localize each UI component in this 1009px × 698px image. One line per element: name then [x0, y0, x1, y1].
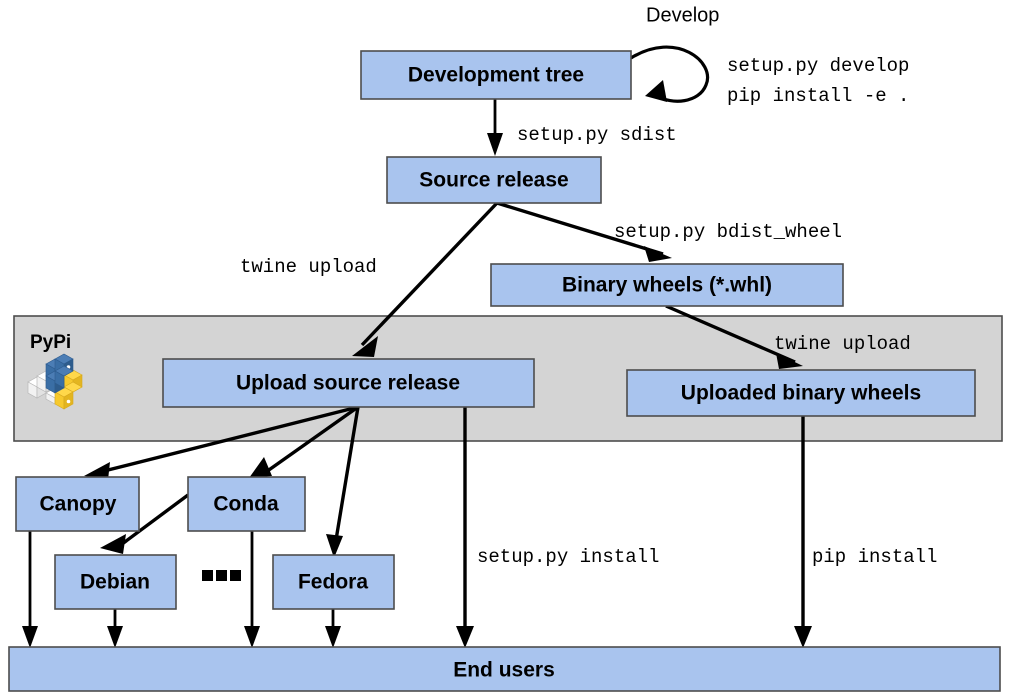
edge-upload-to-endusers [456, 407, 474, 648]
packaging-flow-diagram: PyPi [0, 0, 1009, 698]
upload-source-release-label: Upload source release [236, 372, 460, 395]
edge-label-twine-upload-source: twine upload [240, 256, 377, 278]
diagram-canvas: PyPi [0, 0, 1009, 698]
node-end-users[interactable]: End users [9, 647, 1000, 691]
conda-label: Conda [213, 493, 279, 516]
node-uploaded-binary-wheels[interactable]: Uploaded binary wheels [627, 370, 975, 416]
node-binary-wheels[interactable]: Binary wheels (*.whl) [491, 264, 843, 306]
canopy-to-endusers-arrowhead [22, 626, 38, 648]
ellipsis-dot-2 [216, 570, 227, 581]
source-release-label: Source release [419, 169, 568, 192]
upload-to-conda-arrowhead [249, 457, 272, 478]
node-conda[interactable]: Conda [188, 477, 305, 531]
uploaded-binary-wheels-label: Uploaded binary wheels [681, 382, 921, 405]
edge-label-pip-install-editable: pip install -e . [727, 85, 909, 107]
debian-label: Debian [80, 571, 150, 594]
fedora-to-endusers-arrowhead [325, 626, 341, 648]
ellipsis-dot-1 [202, 570, 213, 581]
edge-label-setup-py-develop: setup.py develop [727, 55, 909, 77]
edge-dev-to-source [487, 99, 503, 156]
edge-debian-to-endusers [107, 609, 123, 648]
edge-uploaded-to-endusers [794, 416, 812, 648]
edge-label-develop: Develop [646, 4, 719, 26]
upload-to-endusers-arrowhead [456, 626, 474, 648]
node-fedora[interactable]: Fedora [273, 555, 394, 609]
binary-wheels-label: Binary wheels (*.whl) [562, 274, 772, 297]
conda-to-endusers-arrowhead [244, 626, 260, 648]
ellipsis-dot-3 [230, 570, 241, 581]
debian-to-endusers-arrowhead [107, 626, 123, 648]
edge-label-setup-py-bdist-wheel: setup.py bdist_wheel [614, 221, 842, 243]
end-users-label: End users [453, 659, 555, 682]
conda-to-debian-arrowhead [100, 534, 126, 554]
canopy-label: Canopy [39, 493, 116, 516]
edge-label-setup-py-install: setup.py install [477, 546, 659, 568]
development-tree-label: Development tree [408, 64, 584, 87]
develop-loop-path [631, 47, 708, 101]
fedora-label: Fedora [298, 571, 368, 594]
node-canopy[interactable]: Canopy [16, 477, 139, 531]
node-upload-source-release[interactable]: Upload source release [163, 359, 534, 407]
edge-label-setup-py-sdist: setup.py sdist [517, 124, 677, 146]
uploaded-to-endusers-arrowhead [794, 626, 812, 648]
pypi-panel-title: PyPi [30, 332, 71, 353]
edge-canopy-to-endusers [22, 531, 38, 648]
edge-label-twine-upload-wheels: twine upload [774, 333, 911, 355]
edge-develop-self-loop [631, 47, 708, 102]
dev-to-source-arrowhead [487, 133, 503, 156]
node-development-tree[interactable]: Development tree [361, 51, 631, 99]
edge-fedora-to-endusers [325, 609, 341, 648]
node-source-release[interactable]: Source release [387, 157, 601, 203]
develop-loop-arrowhead [645, 80, 667, 102]
node-debian[interactable]: Debian [55, 555, 176, 609]
edge-conda-to-endusers [244, 531, 260, 648]
source-to-wheels-arrowhead [644, 246, 672, 262]
more-distros-ellipsis [202, 570, 241, 581]
edge-label-pip-install: pip install [812, 546, 937, 568]
